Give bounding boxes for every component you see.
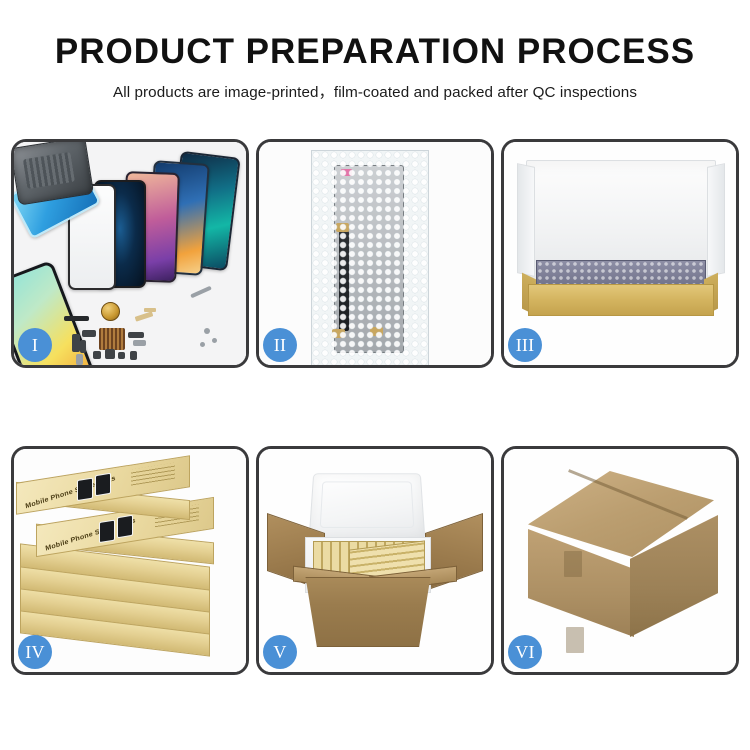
flex-cable-part: [144, 308, 156, 312]
page-subtitle: All products are image-printed，film-coat…: [0, 80, 750, 102]
small-part: [105, 349, 115, 359]
page-title: PRODUCT PREPARATION PROCESS: [0, 34, 750, 71]
printed-spec-lines: [131, 463, 175, 486]
step-4-photo: Mobile Phone Spare Parts Mobile Phone Sp…: [14, 449, 246, 672]
screw-part: [200, 342, 205, 347]
step-5-photo: [259, 449, 491, 672]
step-panel-4[interactable]: Mobile Phone Spare Parts Mobile Phone Sp…: [11, 446, 249, 675]
carton-tape-mark: [564, 551, 582, 577]
small-part: [72, 334, 80, 352]
step-badge-3: III: [508, 328, 542, 362]
small-part: [82, 330, 96, 337]
process-steps-grid: I II III: [11, 139, 739, 675]
bubble-texture: [312, 151, 428, 365]
small-part: [130, 351, 137, 360]
small-part: [80, 340, 86, 353]
carton-tape-mark: [566, 627, 584, 653]
printed-phone-image: [117, 515, 133, 539]
speaker-coin-part: [101, 302, 120, 321]
box-stack: Mobile Phone Spare Parts Mobile Phone Sp…: [14, 449, 246, 672]
gold-box-front: [528, 284, 714, 316]
step-panel-2[interactable]: II: [256, 139, 494, 368]
carton-front-panel: [297, 577, 439, 647]
screw-part: [204, 328, 210, 334]
small-part: [64, 316, 89, 321]
step-badge-6: VI: [508, 635, 542, 669]
step-panel-3[interactable]: III: [501, 139, 739, 368]
small-part: [128, 332, 144, 338]
step-badge-2: II: [263, 328, 297, 362]
step-badge-4: IV: [18, 635, 52, 669]
step-badge-1: I: [18, 328, 52, 362]
step-panel-1[interactable]: I: [11, 139, 249, 368]
printed-phone-image: [77, 478, 93, 502]
printed-phone-image: [99, 520, 115, 544]
small-part: [93, 351, 101, 359]
step-panel-5[interactable]: V: [256, 446, 494, 675]
bubble-wrap-bag: [311, 150, 429, 365]
page-header: PRODUCT PREPARATION PROCESS All products…: [0, 0, 750, 102]
step-6-photo: [504, 449, 736, 672]
small-part: [133, 340, 146, 346]
step-2-photo: [259, 142, 491, 365]
printed-phone-image: [95, 473, 111, 497]
foam-box-lid: [309, 473, 426, 539]
chip-array-part: [99, 328, 125, 350]
small-part: [76, 354, 83, 365]
small-part: [118, 352, 125, 359]
step-panel-6[interactable]: VI: [501, 446, 739, 675]
step-3-photo: [504, 142, 736, 365]
step-1-photo: [14, 142, 246, 365]
step-badge-5: V: [263, 635, 297, 669]
screw-part: [212, 338, 217, 343]
